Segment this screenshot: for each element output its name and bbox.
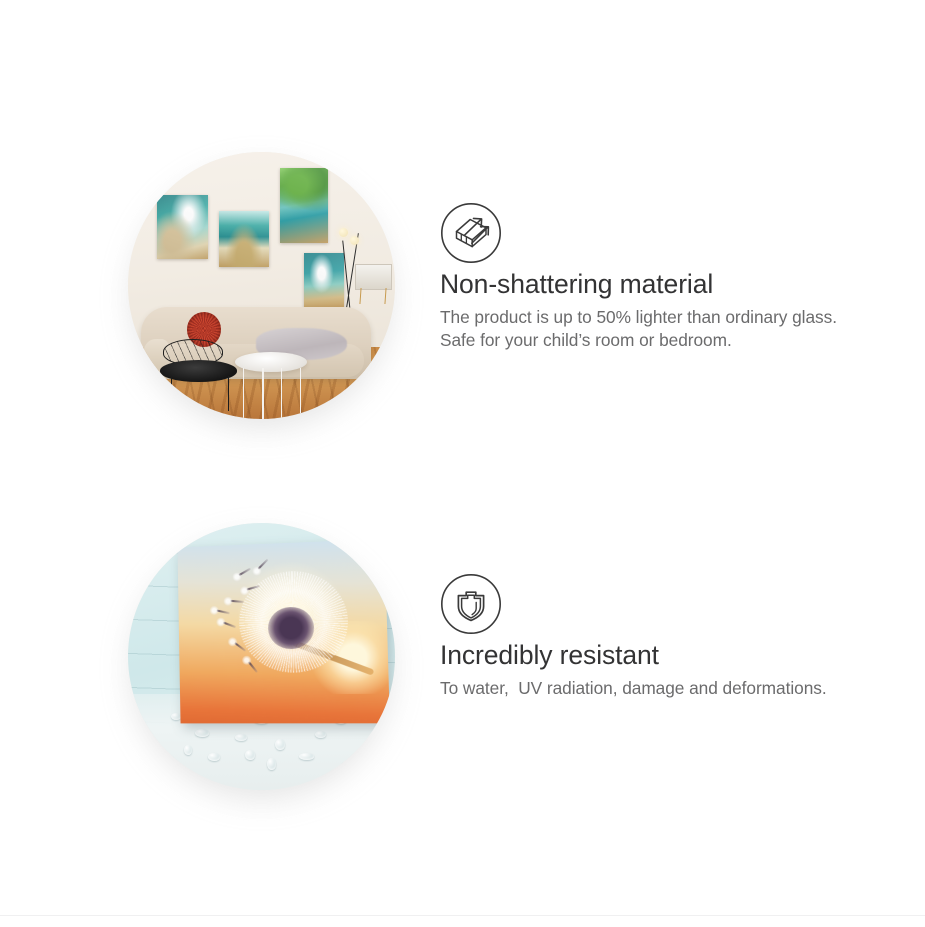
feature-text-non-shattering: Non-shattering material The product is u… — [440, 270, 872, 352]
water-droplet — [299, 753, 314, 760]
water-droplet — [315, 731, 326, 738]
dandelion-seed — [248, 661, 258, 673]
water-droplet — [171, 713, 181, 720]
water-droplet — [267, 758, 276, 770]
water-droplet — [275, 739, 285, 750]
dandelion-seed — [223, 621, 236, 628]
record-player-console — [355, 264, 392, 290]
dandelion-seed — [257, 559, 268, 570]
shield-icon — [440, 573, 502, 635]
dandelion-seed — [230, 600, 243, 603]
water-droplet — [208, 753, 220, 761]
dandelion-seed — [216, 610, 229, 615]
white-table-legs — [243, 368, 301, 419]
water-droplet — [195, 729, 209, 737]
feature-description: The product is up to 50% lighter than or… — [440, 306, 872, 352]
photo-circle-mask — [128, 152, 395, 419]
flexible-layered-material-icon — [440, 202, 502, 264]
wall-art-print-1 — [157, 195, 208, 259]
console-legs — [360, 288, 387, 304]
wall-art-print-4 — [304, 253, 344, 309]
wall-art-print-2 — [219, 211, 270, 267]
feature-title: Incredibly resistant — [440, 641, 872, 671]
photo-circle-mask — [128, 523, 395, 790]
feature-block-non-shattering: Non-shattering material The product is u… — [0, 140, 925, 440]
living-room-scene — [128, 152, 395, 419]
dandelion-seed — [238, 568, 251, 576]
bottom-divider — [0, 915, 925, 916]
water-droplet — [184, 745, 192, 755]
water-droplet — [235, 734, 247, 741]
living-room-wall-art-photo — [128, 152, 395, 419]
lamp-bulb-left — [339, 228, 348, 237]
feature-description: To water, UV radiation, damage and defor… — [440, 677, 872, 700]
dandelion-print-waterdrops-photo — [128, 523, 395, 790]
dandelion-canvas-print — [177, 539, 390, 724]
feature-block-incredibly-resistant: Incredibly resistant To water, UV radiat… — [0, 511, 925, 811]
black-table-legs — [171, 376, 229, 411]
feature-text-incredibly-resistant: Incredibly resistant To water, UV radiat… — [440, 641, 872, 700]
feature-list-page: Non-shattering material The product is u… — [0, 0, 925, 927]
feature-title: Non-shattering material — [440, 270, 872, 300]
wall-art-print-3 — [280, 168, 328, 243]
water-droplet — [245, 750, 255, 760]
dandelion-scene — [128, 523, 395, 790]
